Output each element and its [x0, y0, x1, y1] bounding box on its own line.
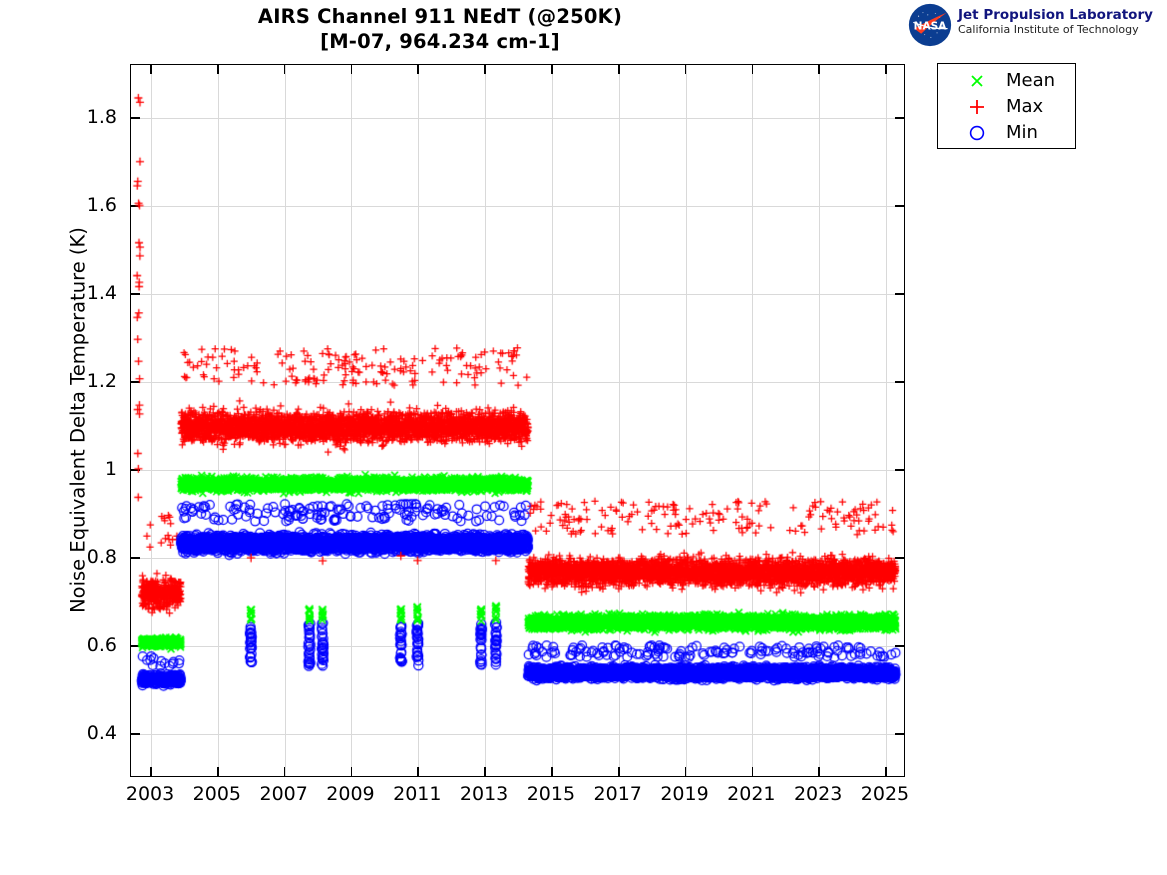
nasa-wordmark: NASA — [914, 20, 948, 32]
legend-entry-max: Max — [938, 94, 1075, 120]
nasa-jpl-logo: NASA Jet Propulsion Laboratory Californi… — [908, 3, 1160, 49]
legend-entry-mean: Mean — [938, 68, 1075, 94]
y-tick-label: 1 — [105, 458, 117, 480]
x-tick-label: 2017 — [594, 783, 642, 805]
y-tick-label: 0.4 — [87, 722, 117, 744]
x-tick-label: 2019 — [660, 783, 708, 805]
legend-entry-min: Min — [938, 120, 1075, 146]
y-tick-label: 0.8 — [87, 546, 117, 568]
y-tick-label: 1.4 — [87, 282, 117, 304]
x-tick-label: 2003 — [126, 783, 174, 805]
y-tick-label: 1.6 — [87, 194, 117, 216]
y-tick-label: 0.6 — [87, 634, 117, 656]
x-tick-label: 2015 — [527, 783, 575, 805]
jpl-title: Jet Propulsion Laboratory — [958, 7, 1153, 23]
y-tick-label: 1.8 — [87, 106, 117, 128]
chart-legend: Mean Max Min — [937, 63, 1076, 149]
min-marker-icon — [964, 120, 990, 146]
jpl-subtitle: California Institute of Technology — [958, 23, 1153, 37]
jpl-text-block: Jet Propulsion Laboratory California Ins… — [958, 7, 1153, 37]
chart-plot-area — [130, 64, 905, 777]
x-tick-label: 2025 — [861, 783, 909, 805]
title-line-1: AIRS Channel 911 NEdT (@250K) — [0, 4, 880, 29]
title-line-2: [M-07, 964.234 cm-1] — [0, 29, 880, 54]
y-tick-label: 1.2 — [87, 370, 117, 392]
legend-label-max: Max — [1006, 94, 1043, 120]
legend-label-mean: Mean — [1006, 68, 1055, 94]
x-tick-label: 2007 — [259, 783, 307, 805]
x-tick-label: 2021 — [727, 783, 775, 805]
x-tick-label: 2013 — [460, 783, 508, 805]
scatter-data-layer — [131, 65, 904, 776]
page-title: AIRS Channel 911 NEdT (@250K) [M-07, 964… — [0, 4, 880, 54]
x-tick-label: 2011 — [393, 783, 441, 805]
x-tick-label: 2023 — [794, 783, 842, 805]
mean-marker-icon — [964, 68, 990, 94]
x-tick-label: 2005 — [193, 783, 241, 805]
legend-label-min: Min — [1006, 120, 1038, 146]
nasa-seal-icon: NASA — [908, 3, 952, 47]
max-marker-icon — [964, 94, 990, 120]
x-tick-label: 2009 — [326, 783, 374, 805]
